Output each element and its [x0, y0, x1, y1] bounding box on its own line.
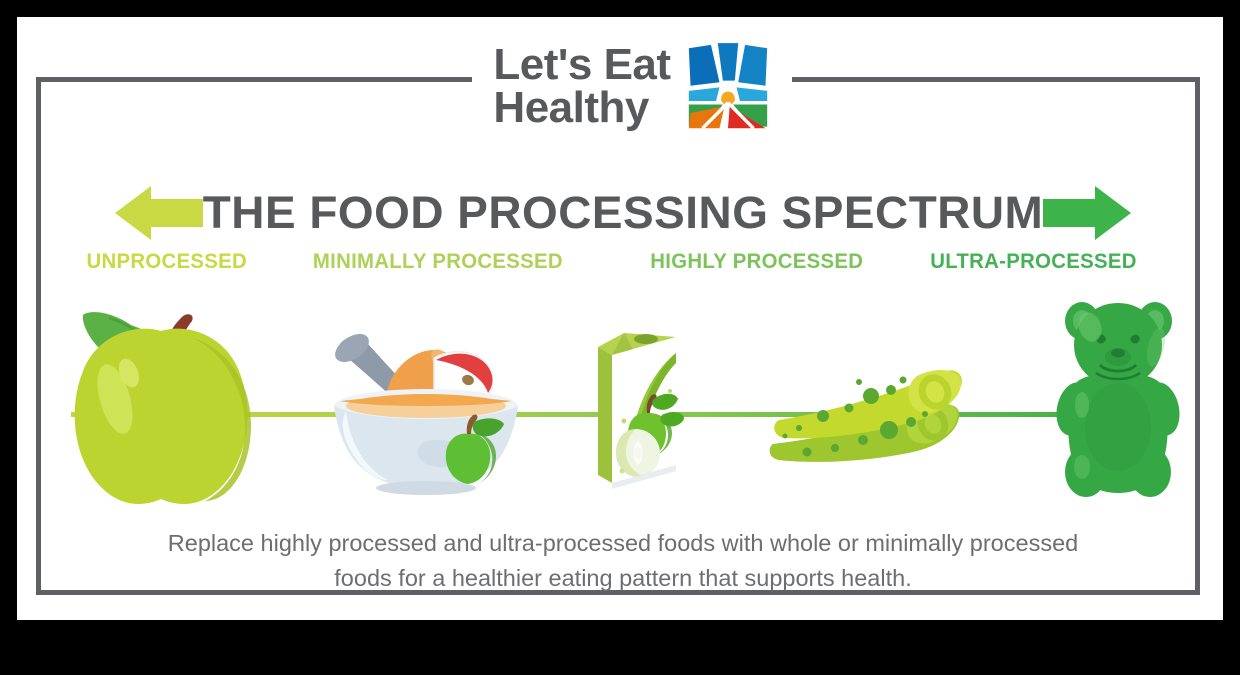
sun-landscape-logo-icon [685, 38, 771, 135]
category-label-ultra-processed: ULTRA-PROCESSED [930, 250, 1137, 274]
caption-text: Replace highly processed and ultra-proce… [151, 526, 1095, 596]
food-whole-green-apple [69, 287, 254, 522]
brand-line-2: Healthy [493, 86, 670, 129]
food-apple-juice-carton [590, 325, 690, 522]
category-label-unprocessed: UNPROCESSED [86, 250, 247, 274]
food-bowl-of-applesauce [316, 322, 531, 522]
food-fruit-leather-strips [763, 352, 968, 522]
infographic-screen: THE FOOD PROCESSING SPECTRUM UNPROCESSED… [0, 0, 1240, 675]
arrow-left-icon [113, 186, 205, 240]
spectrum-category-labels: UNPROCESSED MINIMALLY PROCESSED HIGHLY P… [41, 250, 1205, 280]
arrow-right-icon [1041, 186, 1133, 240]
brand-line-1: Let's Eat [493, 40, 670, 89]
category-label-highly-processed: HIGHLY PROCESSED [650, 250, 863, 274]
infographic-card: THE FOOD PROCESSING SPECTRUM UNPROCESSED… [17, 17, 1223, 620]
spectrum-strip [41, 287, 1205, 522]
spectrum-title-row: THE FOOD PROCESSING SPECTRUM [41, 180, 1205, 246]
brand-logo: Let's Eat Healthy [472, 33, 792, 139]
infographic-frame: THE FOOD PROCESSING SPECTRUM UNPROCESSED… [36, 77, 1200, 595]
brand-wordmark: Let's Eat Healthy [493, 43, 670, 129]
food-gummy-bear [1056, 287, 1181, 522]
page-title: THE FOOD PROCESSING SPECTRUM [203, 187, 1044, 239]
category-label-minimally-processed: MINIMALLY PROCESSED [313, 250, 563, 274]
